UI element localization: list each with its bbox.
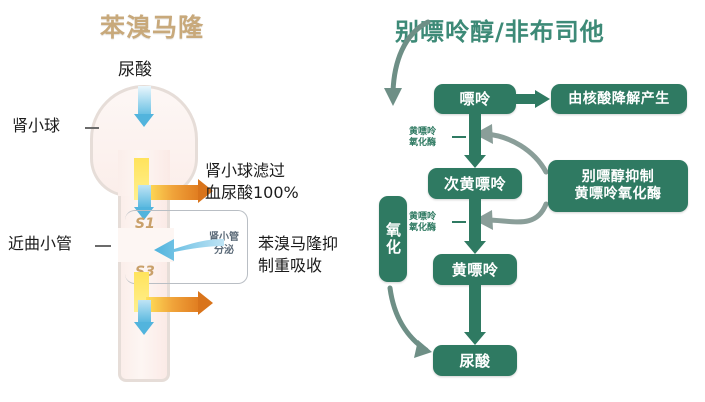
box-uric-acid[interactable]: 尿酸 [433, 345, 517, 376]
uric-acid-inflow-arrow-icon [134, 86, 154, 127]
enzyme-leader-line-2 [452, 221, 466, 223]
filtration-label-line1: 肾小球滤过 [205, 160, 299, 182]
reabsorption-label-line2: 制重吸收 [258, 255, 338, 277]
left-panel-title: 苯溴马隆 [100, 8, 204, 44]
purine-to-nucleic-arrow-icon [516, 90, 552, 108]
reabsorption-inhibition-label: 苯溴马隆抑 制重吸收 [258, 233, 338, 276]
filtration-label: 肾小球滤过 血尿酸100% [205, 160, 299, 203]
enzyme-leader-line-1 [452, 136, 466, 138]
uric-acid-inflow-label: 尿酸 [118, 55, 152, 80]
glomerulus-label: 肾小球 [12, 112, 60, 136]
box-allopurinol-inhibits-xanthine-oxidase[interactable]: 别嘌醇抑制 黄嘌呤氧化酶 [548, 160, 688, 212]
filtration-label-line2: 血尿酸100% [205, 182, 299, 204]
tubular-flow-arrow-icon-2 [134, 300, 154, 335]
tubular-secretion-arrow-icon [152, 236, 224, 262]
enzyme-label-2-line2: 氧化酶 [409, 223, 436, 234]
inhibitor-line2: 黄嘌呤氧化酶 [575, 186, 662, 203]
box-purine[interactable]: 嘌呤 [434, 84, 516, 114]
enzyme-label-1-line1: 黄嘌呤 [409, 127, 436, 138]
hypoxanthine-to-xanthine-arrow-icon [464, 199, 486, 254]
proximal-tubule-label: 近曲小管 [8, 230, 72, 254]
enzyme-label-2: 黄嘌呤 氧化酶 [409, 212, 436, 235]
inhibitor-line1: 别嘌醇抑制 [575, 169, 662, 186]
tubule-leader-line [95, 245, 111, 247]
box-nucleic-acid-degradation[interactable]: 由核酸降解产生 [551, 84, 687, 114]
enzyme-label-1: 黄嘌呤 氧化酶 [409, 127, 436, 150]
benzbromarone-panel: 苯溴马隆 尿酸 肾小球 肾小球滤过 血尿酸100% S1 S2 S3 肾小管 分… [0, 0, 370, 402]
purine-to-hypoxanthine-arrow-icon [464, 114, 486, 168]
box-xanthine[interactable]: 黄嘌呤 [433, 254, 517, 285]
box-oxidation[interactable]: 氧化 [379, 196, 407, 282]
reabsorption-label-line1: 苯溴马隆抑 [258, 233, 338, 255]
enzyme-label-1-line2: 氧化酶 [409, 138, 436, 149]
xanthine-to-uric-acid-arrow-icon [464, 285, 486, 345]
box-hypoxanthine[interactable]: 次黄嘌呤 [428, 168, 522, 199]
enzyme-label-2-line1: 黄嘌呤 [409, 212, 436, 223]
glomerulus-leader-line [85, 127, 99, 129]
right-panel-title: 别嘌呤醇/非布司他 [395, 12, 605, 47]
